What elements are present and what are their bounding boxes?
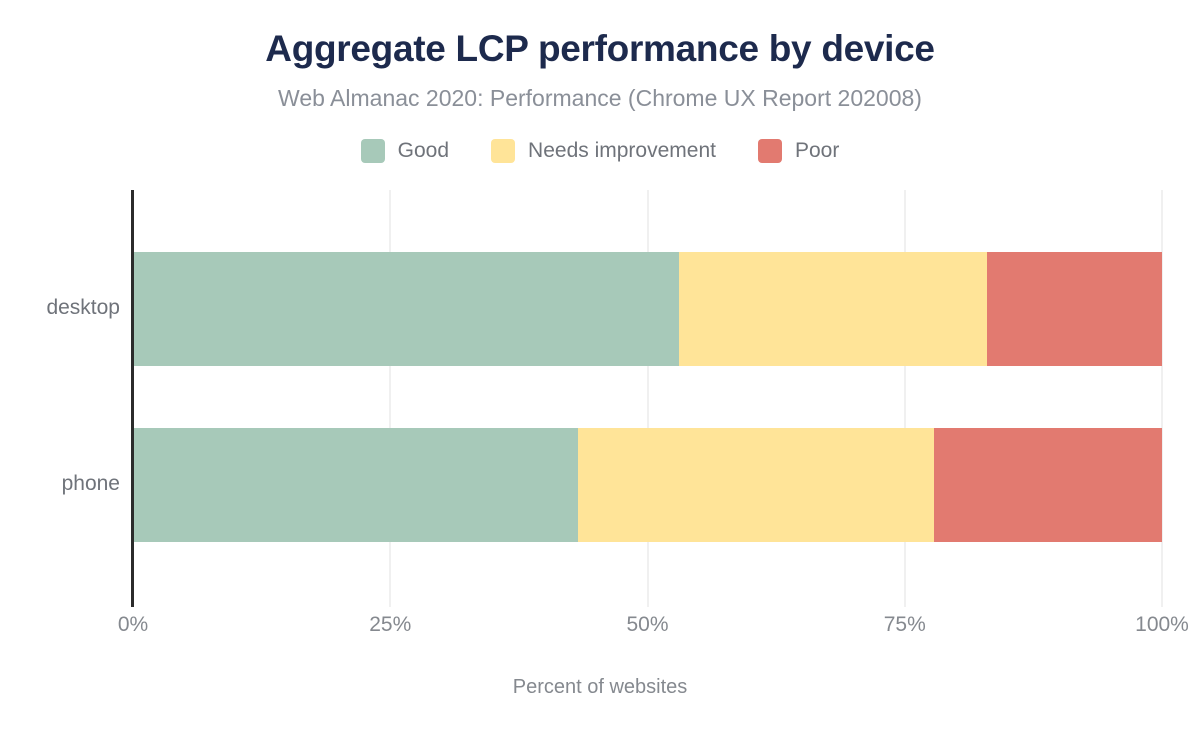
chart-subtitle: Web Almanac 2020: Performance (Chrome UX… (0, 85, 1200, 112)
bar-segment[interactable] (934, 428, 1162, 542)
legend-item-label: Good (398, 139, 449, 163)
x-axis-tick-label: 100% (1135, 613, 1189, 637)
legend-item[interactable]: Good (361, 139, 449, 163)
x-axis-tick-label: 25% (369, 613, 411, 637)
chart-container: Aggregate LCP performance by device Web … (0, 0, 1200, 742)
y-axis-tick-label: phone (0, 472, 120, 496)
bar-segment[interactable] (679, 252, 987, 366)
legend-swatch-icon (361, 139, 385, 163)
bar-segment[interactable] (578, 428, 934, 542)
legend-swatch-icon (491, 139, 515, 163)
y-axis-tick-labels: desktopphone (0, 190, 120, 607)
y-axis-line (131, 190, 134, 607)
legend-item[interactable]: Poor (758, 139, 839, 163)
x-axis-tick-label: 50% (626, 613, 668, 637)
x-axis-tick-label: 75% (884, 613, 926, 637)
legend-item-label: Poor (795, 139, 839, 163)
bar-segment[interactable] (987, 252, 1162, 366)
bar-group-desktop (133, 252, 1162, 366)
y-axis-tick-label: desktop (0, 296, 120, 320)
chart-title: Aggregate LCP performance by device (0, 28, 1200, 70)
plot-area (133, 190, 1162, 607)
chart-legend: GoodNeeds improvementPoor (0, 139, 1200, 163)
x-axis-tick-label: 0% (118, 613, 148, 637)
legend-swatch-icon (758, 139, 782, 163)
bar-segment[interactable] (133, 428, 578, 542)
legend-item[interactable]: Needs improvement (491, 139, 716, 163)
bar-segment[interactable] (133, 252, 679, 366)
x-axis-title: Percent of websites (0, 676, 1200, 699)
legend-item-label: Needs improvement (528, 139, 716, 163)
bar-group-phone (133, 428, 1162, 542)
